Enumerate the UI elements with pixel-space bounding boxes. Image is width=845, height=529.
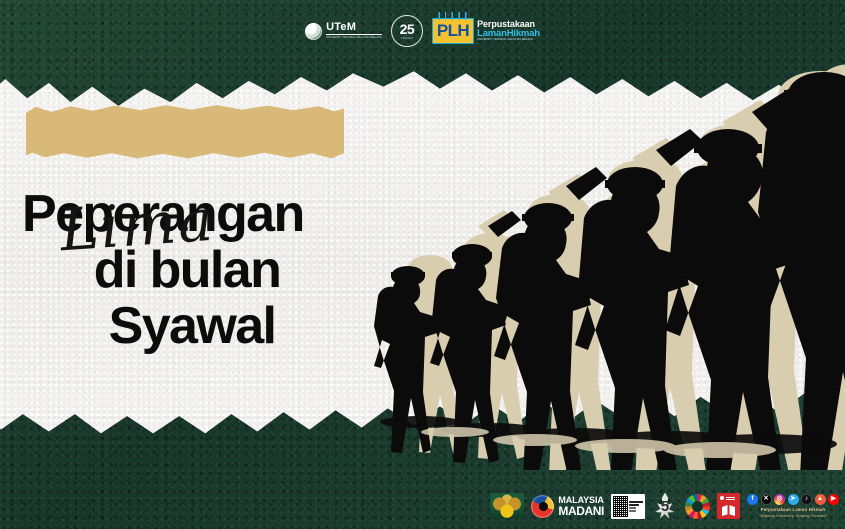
social-icon-row: f ✕ ◎ ➤ ♪ ▲ ▶ [747,494,839,505]
qr-code-icon[interactable] [611,494,645,519]
sdg-goal-caption-line [726,497,735,498]
x-twitter-icon[interactable]: ✕ [761,494,772,505]
gold-brush-banner [26,104,344,160]
headline-block: Lima Peperangan di bulan Syawal [0,104,390,354]
anniversary-number: 25 [400,22,415,36]
sdg-goal-caption-line [726,499,735,500]
header-logo-strip: UTeM UNIVERSITI TEKNIKAL MALAYSIA MELAKA… [0,10,845,52]
anniversary-25-logo: 25 TAHUN [391,15,423,47]
headline-line-3: Syawal [0,298,390,354]
utem-logo: UTeM UNIVERSITI TEKNIKAL MALAYSIA MELAKA [305,22,382,40]
five-star-number: 5 [661,499,669,514]
sdg-goal-4-caption [720,496,735,500]
eyebrow-lima: Lima [58,191,216,260]
malaysia-madani-icon [531,495,554,518]
open-book-glyph-icon [722,505,735,516]
qr-text-line [629,501,643,503]
youtube-icon[interactable]: ▶ [828,494,839,505]
qr-code-pattern [613,496,628,517]
facebook-icon[interactable]: f [747,494,758,505]
sdg-goal-4-quality-education-icon [717,493,740,519]
qr-text-line [629,507,636,509]
instagram-icon[interactable]: ◎ [774,494,785,505]
sdg-wheel-icon [685,494,710,519]
footer-logo-strip: MALAYSIA MADANI 5 [490,489,839,523]
plh-line3: UNIVERSITI TEKNIKAL MALAYSIA MELAKA [477,39,540,42]
plh-badge: PLH [432,18,474,44]
social-handle-label: Perpustakaan Laman Hikmah [761,507,826,512]
qr-text-line [629,510,636,512]
marching-soldiers-silhouette [360,40,845,470]
tiktok-icon[interactable]: ♪ [801,494,812,505]
qr-text-line [629,504,639,506]
social-tagline: "Aligning University, Surging Forward" [759,514,827,518]
social-media-block: f ✕ ◎ ➤ ♪ ▲ ▶ Perpustakaan Laman Hikmah … [747,494,839,518]
sdg-goal-number-dot [720,496,724,500]
poster-canvas: UTeM UNIVERSITI TEKNIKAL MALAYSIA MELAKA… [0,0,845,529]
madani-line2: MADANI [558,505,604,517]
telegram-icon[interactable]: ➤ [788,494,799,505]
anniversary-label: TAHUN [401,36,413,40]
jata-negara-icon [490,493,524,519]
shopee-icon[interactable]: ▲ [815,494,826,505]
malaysia-madani-logo: MALAYSIA MADANI [531,495,604,518]
utem-globe-icon [305,23,322,40]
five-star-rating-icon: 5 [652,493,678,520]
utem-name: UTeM [326,22,382,35]
plh-library-logo: PLH Perpustakaan LamanHikmah UNIVERSITI … [432,18,540,44]
utem-tagline: UNIVERSITI TEKNIKAL MALAYSIA MELAKA [326,36,382,39]
